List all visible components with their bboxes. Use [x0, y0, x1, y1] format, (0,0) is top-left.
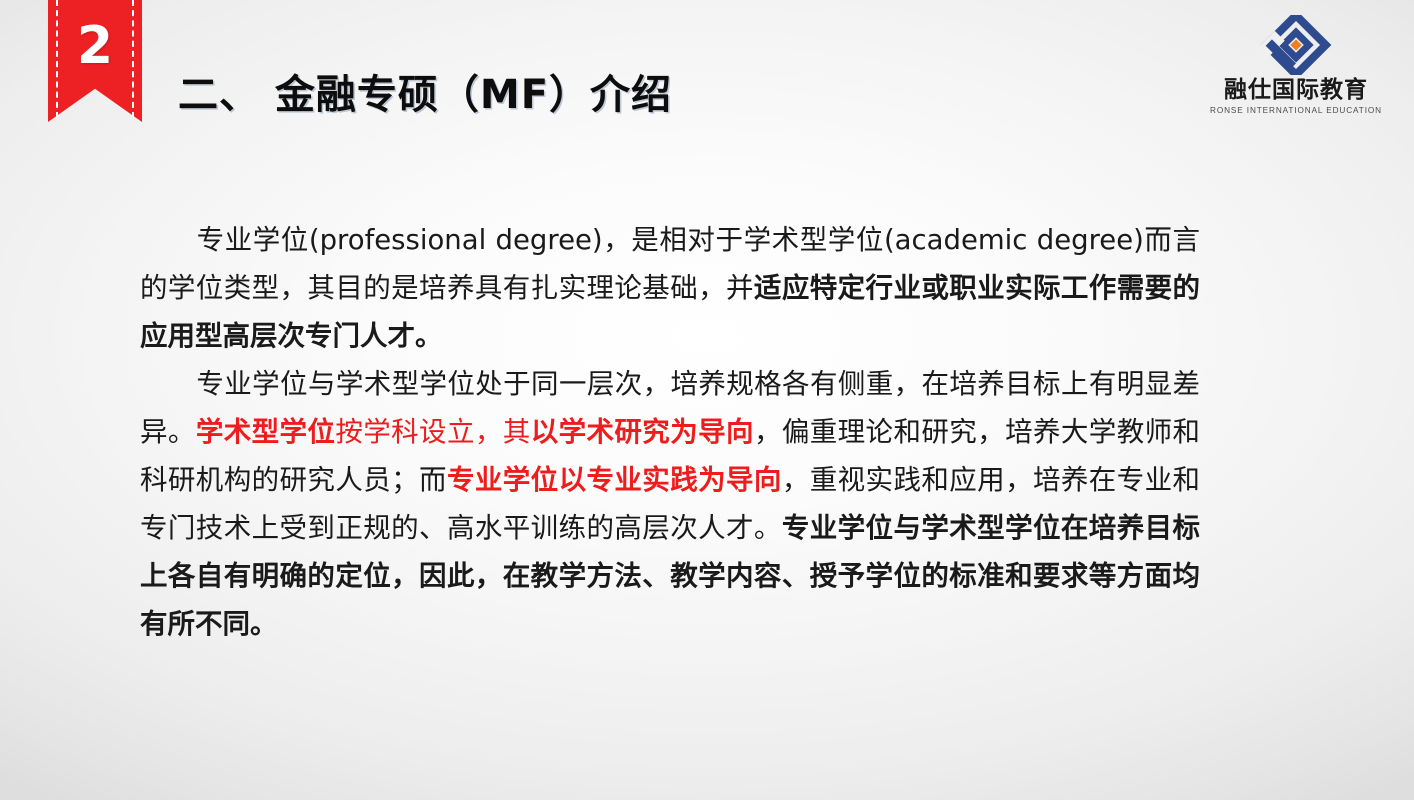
paragraph-2: 专业学位与学术型学位处于同一层次，培养规格各有侧重，在培养目标上有明显差异。学术… [140, 360, 1200, 648]
ribbon-badge-number: 2 [48, 0, 142, 98]
logo-name-cn: 融仕国际教育 [1196, 78, 1396, 103]
paragraph-1: 专业学位(professional degree)，是相对于学术型学位(acad… [140, 216, 1200, 360]
run-highlight-bold: 以学术研究为导向 [531, 416, 754, 448]
slide-body: 专业学位(professional degree)，是相对于学术型学位(acad… [140, 216, 1200, 648]
logo-name-en: RONSE INTERNATIONAL EDUCATION [1196, 106, 1396, 115]
run-highlight-bold: 学术型学位 [196, 416, 336, 448]
slide-canvas: 2 二、 金融专硕（MF）介绍 融仕国际教育 RONSE INTERNATION… [0, 0, 1414, 800]
brand-logo: 融仕国际教育 RONSE INTERNATIONAL EDUCATION [1196, 14, 1396, 115]
page-title: 二、 金融专硕（MF）介绍 [178, 62, 672, 120]
run-highlight: 按学科设立，其 [335, 416, 530, 448]
run-highlight-bold: 专业学位以专业实践为导向 [447, 464, 782, 496]
diamond-logo-icon [1196, 14, 1396, 76]
